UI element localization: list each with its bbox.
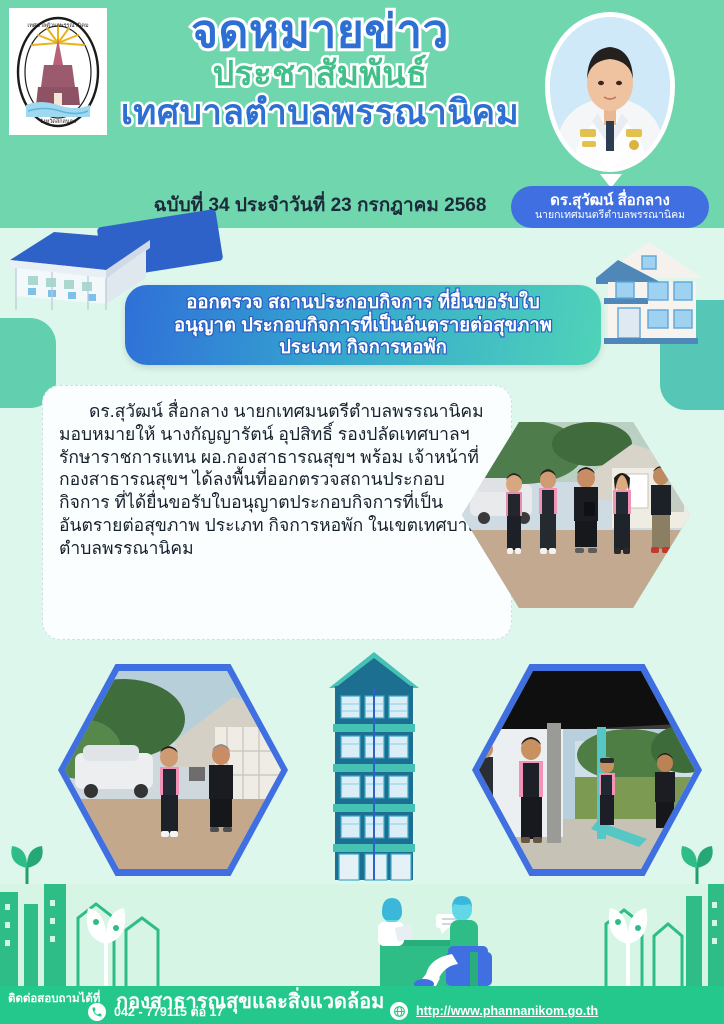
footer-website[interactable]: http://www.phannanikom.go.th xyxy=(390,1002,598,1020)
title-line-1: จดหมายข่าว xyxy=(110,8,530,55)
globe-icon xyxy=(390,1002,408,1020)
body-text-card: ดร.สุวัฒน์ สื่อกลาง นายกเทศมนตรีตำบลพรรณ… xyxy=(42,385,512,640)
city-scene-illustration xyxy=(0,884,724,990)
seal-icon: เทศบาลตำบลพรรณานิคม จังหวัดสกลนคร xyxy=(14,13,102,131)
headline-line-2: อนุญาต ประกอบกิจการที่เป็นอันตรายต่อสุขภ… xyxy=(174,314,552,335)
mayor-portrait xyxy=(545,12,675,184)
mayor-position: นายกเทศมนตรีตำบลพรรณานิคม xyxy=(535,209,685,222)
footer-illustration xyxy=(0,884,724,990)
phone-icon xyxy=(88,1003,106,1021)
mayor-name: ดร.สุวัฒน์ สื่อกลาง xyxy=(550,193,670,209)
inspection-photo-right xyxy=(472,664,702,876)
title-line-3: เทศบาลตำบลพรรณานิคม xyxy=(110,95,530,131)
inspection-photo-left xyxy=(58,664,288,876)
contact-prefix-label: ติดต่อสอบถามได้ที่ xyxy=(8,990,100,1008)
headline-line-1: ออกตรวจ สถานประกอบกิจการ ที่ยื่นขอรับใบ xyxy=(186,291,540,312)
municipality-seal-logo: เทศบาลตำบลพรรณานิคม จังหวัดสกลนคร xyxy=(9,8,107,135)
body-paragraph: ดร.สุวัฒน์ สื่อกลาง นายกเทศมนตรีตำบลพรรณ… xyxy=(59,400,495,559)
phone-number: 042 - 779115 ต่อ 17 xyxy=(114,1002,223,1022)
title-line-2: ประชาสัมพันธ์ xyxy=(110,57,530,92)
headline-line-3: ประเภท กิจการหอพัก xyxy=(279,336,447,357)
mayor-photo xyxy=(550,17,670,167)
headline-banner: ออกตรวจ สถานประกอบกิจการ ที่ยื่นขอรับใบ … xyxy=(125,285,601,365)
svg-text:เทศบาลตำบลพรรณานิคม: เทศบาลตำบลพรรณานิคม xyxy=(27,22,89,29)
apartment-building-illustration xyxy=(327,648,422,886)
house-illustration xyxy=(586,238,712,350)
mayor-name-badge: ดร.สุวัฒน์ สื่อกลาง นายกเทศมนตรีตำบลพรรณ… xyxy=(511,186,709,228)
website-url: http://www.phannanikom.go.th xyxy=(416,1004,598,1018)
header-titles: จดหมายข่าว ประชาสัมพันธ์ เทศบาลตำบลพรรณา… xyxy=(110,8,530,130)
footer-phone[interactable]: 042 - 779115 ต่อ 17 xyxy=(88,1002,223,1022)
header-band: เทศบาลตำบลพรรณานิคม จังหวัดสกลนคร จดหมาย… xyxy=(0,0,724,228)
newsletter-page: เทศบาลตำบลพรรณานิคม จังหวัดสกลนคร จดหมาย… xyxy=(0,0,724,1024)
svg-text:จังหวัดสกลนคร: จังหวัดสกลนคร xyxy=(40,118,77,125)
